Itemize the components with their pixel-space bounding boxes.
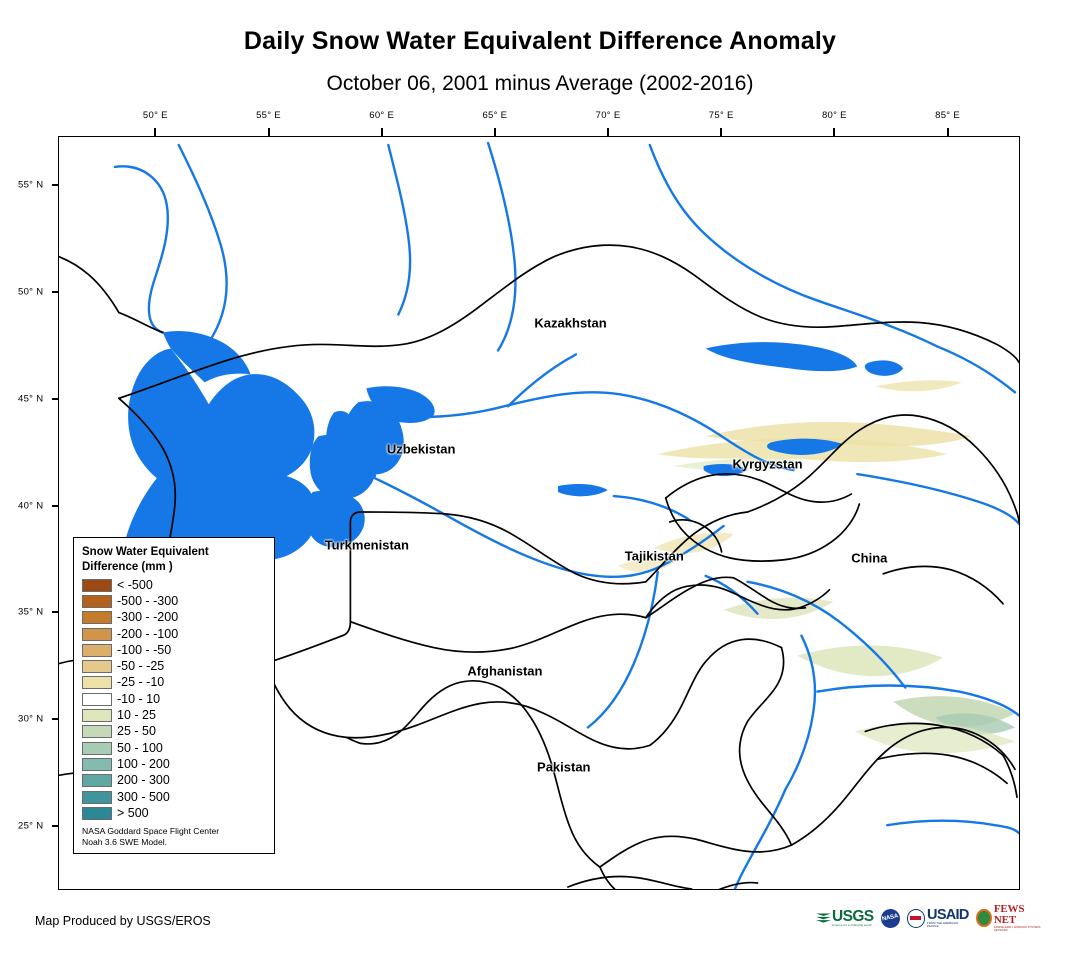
coast-arabian-sea [568, 877, 692, 889]
legend-item[interactable]: -200 - -100 [82, 626, 268, 642]
country-label-tajikistan: Tajikistan [625, 548, 684, 563]
legend-swatch [82, 709, 112, 722]
country-label-kazakhstan: Kazakhstan [534, 315, 606, 330]
legend-label: 100 - 200 [117, 758, 170, 771]
river-volga [115, 166, 168, 332]
legend-item[interactable]: -300 - -200 [82, 610, 268, 626]
legend-swatch [82, 807, 112, 820]
country-label-afghanistan: Afghanistan [467, 663, 542, 678]
border-china-interior [883, 566, 1003, 603]
legend-item[interactable]: 25 - 50 [82, 724, 268, 740]
border-russia-caucasus [59, 257, 119, 313]
legend-item[interactable]: 300 - 500 [82, 789, 268, 805]
border-kyrgyzstan [666, 474, 852, 502]
legend-item[interactable]: -500 - -300 [82, 593, 268, 609]
map-legend[interactable]: Snow Water Equivalent Difference (mm ) <… [73, 537, 275, 854]
border-pakistan-south [600, 867, 758, 889]
legend-swatch [82, 676, 112, 689]
legend-item[interactable]: -10 - 10 [82, 691, 268, 707]
legend-label: 300 - 500 [117, 791, 170, 804]
legend-swatch [82, 644, 112, 657]
legend-label: -200 - -100 [117, 628, 178, 641]
latitude-label: 25° N [18, 820, 43, 831]
nasa-logo: NASA [881, 905, 900, 931]
river-helmand [588, 572, 658, 728]
legend-label: < -500 [117, 579, 153, 592]
anomaly-karakoram [724, 598, 834, 619]
border-azerbaijan [119, 313, 163, 333]
longitude-tick [833, 128, 835, 136]
legend-label: 25 - 50 [117, 725, 156, 738]
legend-swatch [82, 579, 112, 592]
latitude-label: 55° N [18, 180, 43, 191]
legend-source-note: NASA Goddard Space Flight Center Noah 3.… [82, 826, 268, 848]
legend-label: -25 - -10 [117, 676, 164, 689]
legend-swatch [82, 628, 112, 641]
river-indus-lower [730, 789, 786, 889]
legend-title-line1: Snow Water Equivalent [82, 545, 268, 560]
longitude-label: 85° E [935, 110, 960, 121]
border-india-nepal [877, 753, 1007, 783]
agency-logos: USGS science for a changing world NASA U… [815, 903, 1045, 933]
page-title: Daily Snow Water Equivalent Difference A… [0, 27, 1080, 56]
river-indus-upper [785, 636, 814, 790]
legend-swatch [82, 791, 112, 804]
fews-wordmark: FEWS NET [994, 904, 1045, 926]
lake-aydar [558, 484, 608, 496]
border-afghan-east [740, 648, 792, 845]
legend-label: -300 - -200 [117, 611, 178, 624]
longitude-label: 55° E [256, 110, 281, 121]
legend-swatch [82, 611, 112, 624]
latitude-label: 30° N [18, 714, 43, 725]
longitude-tick [154, 128, 156, 136]
longitude-label: 60° E [369, 110, 394, 121]
legend-item[interactable]: 200 - 300 [82, 773, 268, 789]
longitude-tick [720, 128, 722, 136]
legend-swatch [82, 595, 112, 608]
legend-swatch [82, 660, 112, 673]
legend-swatch [82, 693, 112, 706]
river-tarim [857, 474, 1019, 524]
country-label-uzbekistan: Uzbekistan [387, 441, 456, 456]
usaid-logo: USAID FROM THE AMERICAN PEOPLE [907, 905, 970, 931]
legend-item[interactable]: 50 - 100 [82, 740, 268, 756]
latitude-label: 50° N [18, 286, 43, 297]
legend-label: -10 - 10 [117, 693, 160, 706]
legend-swatch [82, 758, 112, 771]
longitude-label: 65° E [482, 110, 507, 121]
legend-label: -500 - -300 [117, 595, 178, 608]
longitude-tick [607, 128, 609, 136]
border-afghan-south [600, 836, 792, 867]
fews-net-logo: FEWS NET FAMINE EARLY WARNING SYSTEMS NE… [976, 905, 1045, 931]
legend-label: -50 - -25 [117, 660, 164, 673]
country-label-kyrgyzstan: Kyrgyzstan [732, 456, 802, 471]
usaid-seal-icon [907, 909, 926, 928]
longitude-tick [494, 128, 496, 136]
lake-alakol [865, 360, 903, 375]
fews-tagline: FAMINE EARLY WARNING SYSTEMS NETWORK [994, 926, 1045, 932]
lake-balkhash [706, 342, 858, 371]
legend-title-line2: Difference (mm ) [82, 560, 268, 575]
usgs-wordmark: USGS [832, 910, 874, 924]
page-subtitle: October 06, 2001 minus Average (2002-201… [0, 72, 1080, 96]
legend-title: Snow Water Equivalent Difference (mm ) [82, 545, 268, 574]
border-afghanistan [650, 639, 782, 745]
legend-item[interactable]: -100 - -50 [82, 642, 268, 658]
latitude-label: 40° N [18, 500, 43, 511]
legend-note-line1: NASA Goddard Space Flight Center [82, 826, 268, 837]
map-credit: Map Produced by USGS/EROS [35, 914, 211, 928]
legend-item[interactable]: > 500 [82, 805, 268, 821]
longitude-tick [947, 128, 949, 136]
legend-note-line2: Noah 3.6 SWE Model. [82, 837, 268, 848]
usaid-wordmark: USAID [927, 909, 969, 922]
country-label-pakistan: Pakistan [537, 760, 590, 775]
river-tobol [388, 145, 410, 315]
river-irtysh-upper [650, 145, 937, 346]
legend-swatch [82, 742, 112, 755]
latitude-label: 45° N [18, 393, 43, 404]
longitude-label: 75° E [709, 110, 734, 121]
country-label-turkmenistan: Turkmenistan [325, 537, 409, 552]
latitude-label: 35° N [18, 607, 43, 618]
legend-swatch [82, 774, 112, 787]
anomaly-dzhungar [875, 380, 962, 391]
legend-item[interactable]: 100 - 200 [82, 756, 268, 772]
legend-label: 10 - 25 [117, 709, 156, 722]
legend-label: 200 - 300 [117, 774, 170, 787]
longitude-tick [268, 128, 270, 136]
legend-item[interactable]: -50 - -25 [82, 658, 268, 674]
longitude-label: 80° E [822, 110, 847, 121]
anomaly-raster-layer [618, 380, 1015, 753]
usgs-logo: USGS science for a changing world [815, 905, 874, 931]
legend-label: > 500 [117, 807, 149, 820]
usgs-tagline: science for a changing world [832, 924, 874, 927]
fews-globe-icon [976, 909, 992, 927]
legend-swatch [82, 725, 112, 738]
border-uzbek-south [350, 614, 645, 652]
legend-item[interactable]: 10 - 25 [82, 707, 268, 723]
river-ural [179, 145, 227, 342]
longitude-label: 50° E [143, 110, 168, 121]
river-ganges [887, 821, 1019, 833]
legend-label: -100 - -50 [117, 644, 171, 657]
legend-item[interactable]: -25 - -10 [82, 675, 268, 691]
longitude-tick [381, 128, 383, 136]
legend-items: < -500-500 - -300-300 - -200-200 - -100-… [82, 577, 268, 821]
nasa-meatball-icon: NASA [881, 909, 900, 928]
border-turkmenistan [265, 664, 650, 749]
usgs-wave-icon [815, 911, 832, 926]
longitude-label: 70° E [596, 110, 621, 121]
river-ishim [488, 143, 515, 350]
nasa-wordmark: NASA [881, 913, 898, 922]
country-label-china: China [851, 550, 887, 565]
anomaly-whimalaya [797, 645, 943, 676]
legend-item[interactable]: < -500 [82, 577, 268, 593]
legend-label: 50 - 100 [117, 742, 163, 755]
river-zeravshan [614, 496, 690, 520]
